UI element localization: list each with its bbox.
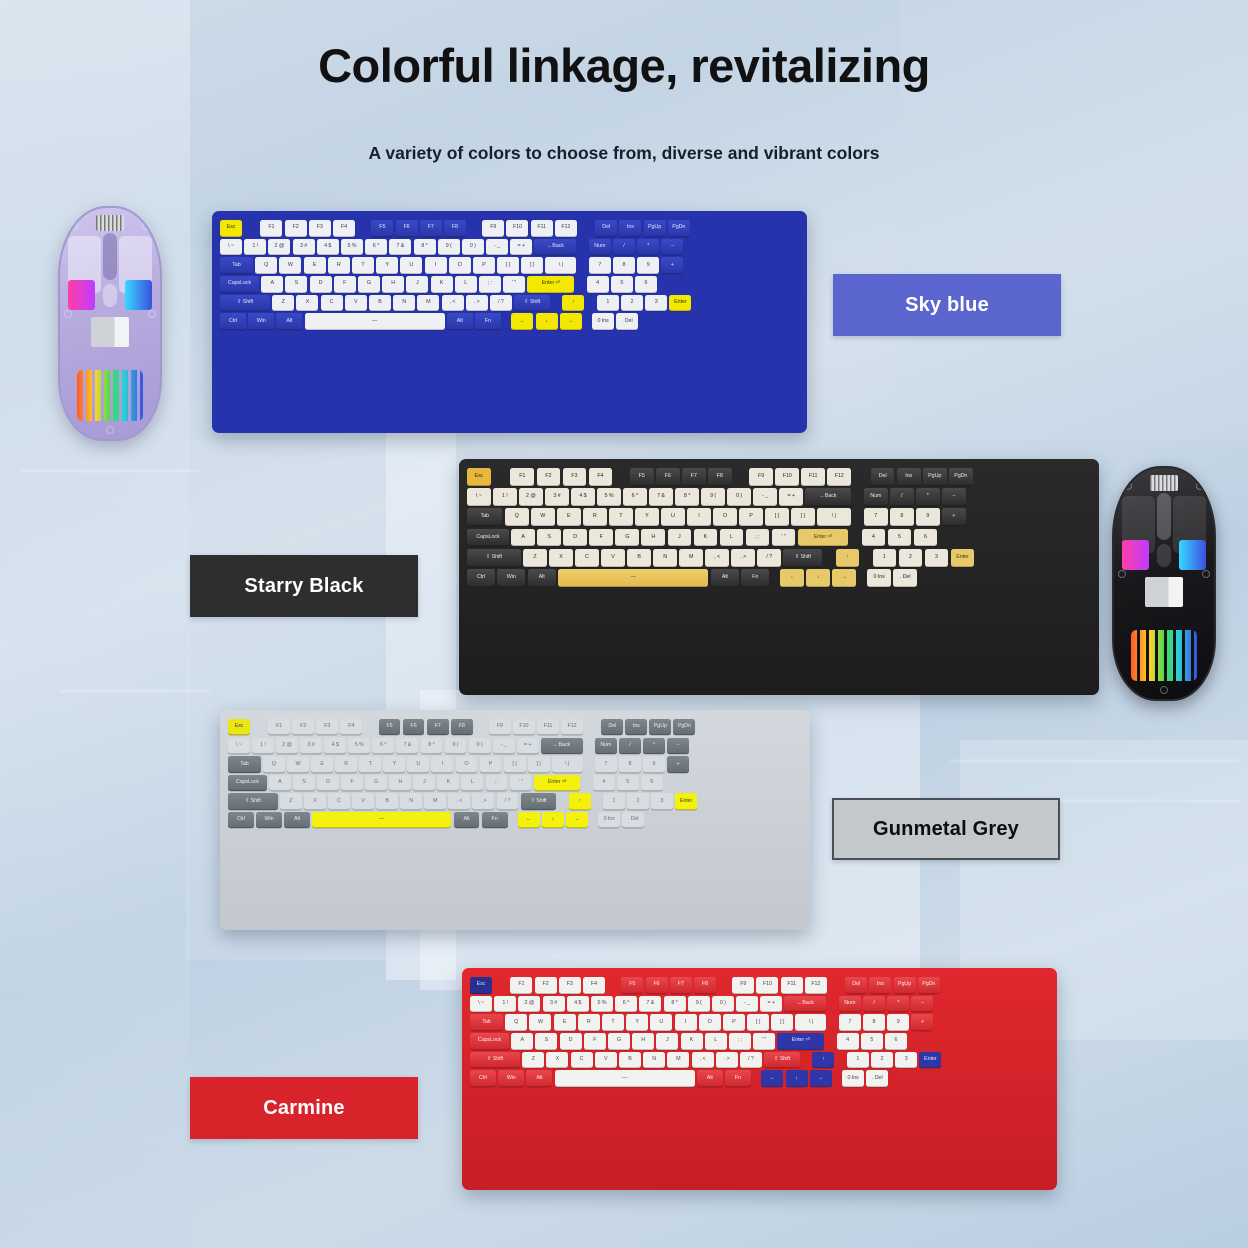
- key-5[interactable]: 5: [617, 775, 639, 791]
- key-l[interactable]: L: [705, 1033, 727, 1050]
- key-9[interactable]: 9 (: [701, 488, 725, 506]
- key-g[interactable]: G: [615, 529, 639, 547]
- key-num[interactable]: Num: [839, 996, 861, 1013]
- key-8[interactable]: 8 *: [414, 239, 436, 256]
- key-7[interactable]: 7: [839, 1014, 861, 1031]
- key-[interactable]: \ ~: [467, 488, 491, 506]
- key-[interactable]: ] }: [521, 257, 543, 274]
- key-f12[interactable]: F12: [805, 977, 827, 994]
- key-[interactable]: \ ~: [470, 996, 492, 1013]
- key-f8[interactable]: F8: [451, 719, 473, 735]
- key-x[interactable]: X: [304, 793, 326, 809]
- key-[interactable]: / ?: [490, 295, 512, 312]
- key-[interactable]: +: [942, 508, 966, 526]
- key-ctrl[interactable]: Ctrl: [470, 1070, 496, 1087]
- key-pgdn[interactable]: PgDn: [918, 977, 940, 994]
- key-esc[interactable]: Esc: [470, 977, 492, 994]
- key-6[interactable]: 6 ^: [365, 239, 387, 256]
- key-win[interactable]: Win: [248, 313, 274, 330]
- key-7[interactable]: 7: [589, 257, 611, 274]
- key-shift[interactable]: ⇧ Shift: [220, 295, 270, 312]
- key-9[interactable]: 9 (: [688, 996, 710, 1013]
- key-pgup[interactable]: PgUp: [644, 220, 666, 237]
- key-[interactable]: ' ": [772, 529, 796, 547]
- key-i[interactable]: I: [431, 756, 453, 772]
- key-[interactable]: ] }: [528, 756, 550, 772]
- key-fn[interactable]: Fn: [482, 812, 508, 828]
- key-7[interactable]: 7: [864, 508, 888, 526]
- key-1[interactable]: 1 !: [244, 239, 266, 256]
- key-r[interactable]: R: [328, 257, 350, 274]
- key-[interactable]: ' ": [503, 276, 525, 293]
- key-5[interactable]: 5 %: [341, 239, 363, 256]
- key-6[interactable]: 6: [635, 276, 657, 293]
- key-f8[interactable]: F8: [444, 220, 466, 237]
- key-f7[interactable]: F7: [670, 977, 692, 994]
- key-pgdn[interactable]: PgDn: [949, 468, 973, 486]
- key-enter[interactable]: Enter ⏎: [534, 775, 581, 791]
- key-shift[interactable]: ⇧ Shift: [228, 793, 278, 809]
- key-[interactable]: —: [305, 313, 445, 330]
- key-3[interactable]: 3: [651, 793, 673, 809]
- key-[interactable]: [ {: [497, 257, 519, 274]
- key-[interactable]: / ?: [757, 549, 781, 567]
- key-l[interactable]: L: [461, 775, 483, 791]
- key-[interactable]: ] }: [771, 1014, 793, 1031]
- key-[interactable]: ↓: [536, 313, 558, 330]
- key-[interactable]: —: [558, 569, 709, 587]
- key-ins[interactable]: Ins: [869, 977, 891, 994]
- key-[interactable]: −: [942, 488, 966, 506]
- key-esc[interactable]: Esc: [228, 719, 250, 735]
- key-f9[interactable]: F9: [482, 220, 504, 237]
- key-1[interactable]: 1 !: [494, 996, 516, 1013]
- key-6[interactable]: 6 ^: [623, 488, 647, 506]
- key-[interactable]: →: [560, 313, 582, 330]
- key-[interactable]: . >: [731, 549, 755, 567]
- key-enter[interactable]: Enter: [951, 549, 975, 567]
- key-[interactable]: —: [555, 1070, 695, 1087]
- key-win[interactable]: Win: [497, 569, 525, 587]
- key-[interactable]: ←: [511, 313, 533, 330]
- key-o[interactable]: O: [699, 1014, 721, 1031]
- key-4[interactable]: 4 $: [317, 239, 339, 256]
- key-0[interactable]: 0 ): [727, 488, 751, 506]
- key-f11[interactable]: F11: [801, 468, 825, 486]
- key-del[interactable]: . Del: [893, 569, 917, 587]
- key-7[interactable]: 7 &: [389, 239, 411, 256]
- key-j[interactable]: J: [656, 1033, 678, 1050]
- key-f4[interactable]: F4: [589, 468, 613, 486]
- key-l[interactable]: L: [720, 529, 744, 547]
- key-z[interactable]: Z: [280, 793, 302, 809]
- key-u[interactable]: U: [661, 508, 685, 526]
- key-f11[interactable]: F11: [531, 220, 553, 237]
- key-9[interactable]: 9 (: [445, 738, 467, 754]
- key-2[interactable]: 2 @: [518, 996, 540, 1013]
- key-f2[interactable]: F2: [285, 220, 307, 237]
- key-del[interactable]: Del: [601, 719, 623, 735]
- key-shift[interactable]: ⇧ Shift: [467, 549, 521, 567]
- key-f9[interactable]: F9: [732, 977, 754, 994]
- key-4[interactable]: 4 $: [571, 488, 595, 506]
- key-tab[interactable]: Tab: [220, 257, 253, 274]
- key-alt[interactable]: Alt: [447, 313, 473, 330]
- key-[interactable]: ←: [518, 812, 540, 828]
- key-ctrl[interactable]: Ctrl: [228, 812, 254, 828]
- key-[interactable]: . >: [716, 1052, 738, 1069]
- key-alt[interactable]: Alt: [526, 1070, 552, 1087]
- key-5[interactable]: 5 %: [348, 738, 370, 754]
- key-9[interactable]: 9: [887, 1014, 909, 1031]
- key-[interactable]: —: [312, 812, 451, 828]
- key-back[interactable]: ←Back: [784, 996, 826, 1013]
- key-h[interactable]: H: [641, 529, 665, 547]
- key-[interactable]: - _: [736, 996, 758, 1013]
- key-a[interactable]: A: [269, 775, 291, 791]
- key-enter[interactable]: Enter ⏎: [527, 276, 574, 293]
- key-f11[interactable]: F11: [537, 719, 559, 735]
- key-c[interactable]: C: [321, 295, 343, 312]
- key-s[interactable]: S: [293, 775, 315, 791]
- key-8[interactable]: 8 *: [421, 738, 443, 754]
- key-2[interactable]: 2: [627, 793, 649, 809]
- key-del[interactable]: Del: [595, 220, 617, 237]
- key-6[interactable]: 6: [641, 775, 663, 791]
- key-shift[interactable]: ⇧ Shift: [514, 295, 550, 312]
- key-[interactable]: = +: [779, 488, 803, 506]
- key-x[interactable]: X: [549, 549, 573, 567]
- key-f12[interactable]: F12: [555, 220, 577, 237]
- key-esc[interactable]: Esc: [220, 220, 242, 237]
- key-f1[interactable]: F1: [268, 719, 290, 735]
- key-fn[interactable]: Fn: [725, 1070, 751, 1087]
- key-3[interactable]: 3: [925, 549, 949, 567]
- key-[interactable]: *: [637, 239, 659, 256]
- key-v[interactable]: V: [352, 793, 374, 809]
- key-[interactable]: ↑: [812, 1052, 834, 1069]
- key-f2[interactable]: F2: [292, 719, 314, 735]
- key-[interactable]: , <: [442, 295, 464, 312]
- key-f4[interactable]: F4: [340, 719, 362, 735]
- key-win[interactable]: Win: [498, 1070, 524, 1087]
- key-pgup[interactable]: PgUp: [894, 977, 916, 994]
- key-[interactable]: ↑: [836, 549, 860, 567]
- key-[interactable]: ; :: [486, 775, 508, 791]
- key-9[interactable]: 9 (: [438, 239, 460, 256]
- key-g[interactable]: G: [365, 775, 387, 791]
- key-o[interactable]: O: [713, 508, 737, 526]
- key-g[interactable]: G: [358, 276, 380, 293]
- key-k[interactable]: K: [694, 529, 718, 547]
- key-[interactable]: - _: [486, 239, 508, 256]
- key-f7[interactable]: F7: [420, 220, 442, 237]
- key-f[interactable]: F: [584, 1033, 606, 1050]
- key-i[interactable]: I: [675, 1014, 697, 1031]
- key-f10[interactable]: F10: [775, 468, 799, 486]
- key-capslock[interactable]: CapsLock: [220, 276, 259, 293]
- key-0[interactable]: 0 ): [469, 738, 491, 754]
- key-c[interactable]: C: [328, 793, 350, 809]
- key-8[interactable]: 8: [890, 508, 914, 526]
- key-[interactable]: *: [887, 996, 909, 1013]
- key-n[interactable]: N: [643, 1052, 665, 1069]
- key-f2[interactable]: F2: [535, 977, 557, 994]
- key-9[interactable]: 9: [637, 257, 659, 274]
- key-num[interactable]: Num: [595, 738, 617, 754]
- key-v[interactable]: V: [595, 1052, 617, 1069]
- key-t[interactable]: T: [609, 508, 633, 526]
- key-9[interactable]: 9: [916, 508, 940, 526]
- key-[interactable]: ; :: [729, 1033, 751, 1050]
- key-r[interactable]: R: [578, 1014, 600, 1031]
- key-f12[interactable]: F12: [827, 468, 851, 486]
- key-q[interactable]: Q: [505, 1014, 527, 1031]
- key-t[interactable]: T: [359, 756, 381, 772]
- key-e[interactable]: E: [557, 508, 581, 526]
- key-q[interactable]: Q: [255, 257, 277, 274]
- key-0-ins[interactable]: 0 Ins: [598, 812, 620, 828]
- key-ctrl[interactable]: Ctrl: [220, 313, 246, 330]
- key-s[interactable]: S: [537, 529, 561, 547]
- key-[interactable]: +: [911, 1014, 933, 1031]
- key-j[interactable]: J: [406, 276, 428, 293]
- key-i[interactable]: I: [687, 508, 711, 526]
- key-[interactable]: , <: [448, 793, 470, 809]
- key-b[interactable]: B: [627, 549, 651, 567]
- key-4[interactable]: 4: [837, 1033, 859, 1050]
- key-f12[interactable]: F12: [561, 719, 583, 735]
- key-[interactable]: = +: [510, 239, 532, 256]
- key-[interactable]: *: [643, 738, 665, 754]
- key-5[interactable]: 5: [888, 529, 912, 547]
- key-d[interactable]: D: [310, 276, 332, 293]
- key-n[interactable]: N: [393, 295, 415, 312]
- key-del[interactable]: . Del: [622, 812, 644, 828]
- key-[interactable]: ←: [780, 569, 804, 587]
- key-4[interactable]: 4: [587, 276, 609, 293]
- key-f9[interactable]: F9: [489, 719, 511, 735]
- key-a[interactable]: A: [511, 529, 535, 547]
- key-[interactable]: [ {: [765, 508, 789, 526]
- key-y[interactable]: Y: [376, 257, 398, 274]
- key-3[interactable]: 3 #: [543, 996, 565, 1013]
- key-g[interactable]: G: [608, 1033, 630, 1050]
- key-b[interactable]: B: [619, 1052, 641, 1069]
- key-f10[interactable]: F10: [756, 977, 778, 994]
- key-[interactable]: ↓: [542, 812, 564, 828]
- key-[interactable]: [ {: [504, 756, 526, 772]
- key-[interactable]: . >: [466, 295, 488, 312]
- key-f7[interactable]: F7: [427, 719, 449, 735]
- key-win[interactable]: Win: [256, 812, 282, 828]
- key-e[interactable]: E: [304, 257, 326, 274]
- key-6[interactable]: 6: [914, 529, 938, 547]
- key-v[interactable]: V: [601, 549, 625, 567]
- key-back[interactable]: ←Back: [541, 738, 583, 754]
- key-[interactable]: →: [810, 1070, 832, 1087]
- key-r[interactable]: R: [335, 756, 357, 772]
- key-back[interactable]: ←Back: [534, 239, 576, 256]
- key-[interactable]: . >: [472, 793, 494, 809]
- key-alt[interactable]: Alt: [284, 812, 310, 828]
- key-k[interactable]: K: [431, 276, 453, 293]
- key-2[interactable]: 2 @: [276, 738, 298, 754]
- key-2[interactable]: 2 @: [268, 239, 290, 256]
- key-[interactable]: ↓: [806, 569, 830, 587]
- key-[interactable]: +: [661, 257, 683, 274]
- key-del[interactable]: . Del: [616, 313, 638, 330]
- key-0[interactable]: 0 ): [462, 239, 484, 256]
- key-del[interactable]: . Del: [866, 1070, 888, 1087]
- key-s[interactable]: S: [535, 1033, 557, 1050]
- key-fn[interactable]: Fn: [741, 569, 769, 587]
- key-n[interactable]: N: [400, 793, 422, 809]
- key-pgdn[interactable]: PgDn: [673, 719, 695, 735]
- key-[interactable]: , <: [705, 549, 729, 567]
- key-[interactable]: \ |: [795, 1014, 826, 1031]
- key-p[interactable]: P: [723, 1014, 745, 1031]
- key-ins[interactable]: Ins: [619, 220, 641, 237]
- key-u[interactable]: U: [400, 257, 422, 274]
- key-shift[interactable]: ⇧ Shift: [764, 1052, 800, 1069]
- key-3[interactable]: 3 #: [545, 488, 569, 506]
- key-shift[interactable]: ⇧ Shift: [470, 1052, 520, 1069]
- key-back[interactable]: ←Back: [805, 488, 850, 506]
- key-w[interactable]: W: [531, 508, 555, 526]
- key-d[interactable]: D: [560, 1033, 582, 1050]
- key-enter[interactable]: Enter: [669, 295, 691, 312]
- key-capslock[interactable]: CapsLock: [467, 529, 509, 547]
- key-[interactable]: \ |: [545, 257, 576, 274]
- key-f[interactable]: F: [589, 529, 613, 547]
- key-pgup[interactable]: PgUp: [649, 719, 671, 735]
- key-f4[interactable]: F4: [583, 977, 605, 994]
- key-3[interactable]: 3 #: [293, 239, 315, 256]
- key-[interactable]: - _: [753, 488, 777, 506]
- key-f[interactable]: F: [334, 276, 356, 293]
- key-f4[interactable]: F4: [333, 220, 355, 237]
- key-2[interactable]: 2: [621, 295, 643, 312]
- key-k[interactable]: K: [681, 1033, 703, 1050]
- key-f6[interactable]: F6: [403, 719, 425, 735]
- key-a[interactable]: A: [261, 276, 283, 293]
- key-shift[interactable]: ⇧ Shift: [521, 793, 557, 809]
- key-n[interactable]: N: [653, 549, 677, 567]
- key-r[interactable]: R: [583, 508, 607, 526]
- key-4[interactable]: 4 $: [324, 738, 346, 754]
- key-[interactable]: *: [916, 488, 940, 506]
- key-c[interactable]: C: [571, 1052, 593, 1069]
- key-0[interactable]: 0 ): [712, 996, 734, 1013]
- key-[interactable]: ; :: [746, 529, 770, 547]
- key-f6[interactable]: F6: [646, 977, 668, 994]
- key-f3[interactable]: F3: [559, 977, 581, 994]
- key-esc[interactable]: Esc: [467, 468, 491, 486]
- key-8[interactable]: 8: [863, 1014, 885, 1031]
- key-enter[interactable]: Enter ⏎: [777, 1033, 824, 1050]
- key-o[interactable]: O: [449, 257, 471, 274]
- key-[interactable]: ↓: [786, 1070, 808, 1087]
- key-f8[interactable]: F8: [708, 468, 732, 486]
- key-h[interactable]: H: [382, 276, 404, 293]
- key-7[interactable]: 7 &: [639, 996, 661, 1013]
- key-ins[interactable]: Ins: [897, 468, 921, 486]
- key-f3[interactable]: F3: [563, 468, 587, 486]
- key-f5[interactable]: F5: [371, 220, 393, 237]
- key-5[interactable]: 5: [861, 1033, 883, 1050]
- key-t[interactable]: T: [602, 1014, 624, 1031]
- key-m[interactable]: M: [667, 1052, 689, 1069]
- key-[interactable]: \ ~: [228, 738, 250, 754]
- key-5[interactable]: 5: [611, 276, 633, 293]
- key-y[interactable]: Y: [383, 756, 405, 772]
- key-f6[interactable]: F6: [396, 220, 418, 237]
- key-u[interactable]: U: [650, 1014, 672, 1031]
- key-b[interactable]: B: [376, 793, 398, 809]
- key-capslock[interactable]: CapsLock: [470, 1033, 509, 1050]
- key-ctrl[interactable]: Ctrl: [467, 569, 495, 587]
- key-capslock[interactable]: CapsLock: [228, 775, 267, 791]
- key-[interactable]: ' ": [753, 1033, 775, 1050]
- key-f5[interactable]: F5: [379, 719, 401, 735]
- key-ins[interactable]: Ins: [625, 719, 647, 735]
- key-f1[interactable]: F1: [260, 220, 282, 237]
- key-x[interactable]: X: [546, 1052, 568, 1069]
- key-enter[interactable]: Enter: [919, 1052, 941, 1069]
- key-m[interactable]: M: [424, 793, 446, 809]
- key-h[interactable]: H: [632, 1033, 654, 1050]
- key-6[interactable]: 6 ^: [372, 738, 394, 754]
- key-[interactable]: / ?: [497, 793, 519, 809]
- key-z[interactable]: Z: [272, 295, 294, 312]
- key-[interactable]: −: [661, 239, 683, 256]
- key-[interactable]: \ |: [552, 756, 583, 772]
- key-b[interactable]: B: [369, 295, 391, 312]
- key-e[interactable]: E: [311, 756, 333, 772]
- key-8[interactable]: 8: [613, 257, 635, 274]
- key-f5[interactable]: F5: [630, 468, 654, 486]
- key-c[interactable]: C: [575, 549, 599, 567]
- key-alt[interactable]: Alt: [454, 812, 480, 828]
- key-m[interactable]: M: [679, 549, 703, 567]
- key-p[interactable]: P: [739, 508, 763, 526]
- key-f10[interactable]: F10: [506, 220, 528, 237]
- key-8[interactable]: 8 *: [675, 488, 699, 506]
- key-s[interactable]: S: [285, 276, 307, 293]
- key-8[interactable]: 8 *: [664, 996, 686, 1013]
- key-f5[interactable]: F5: [621, 977, 643, 994]
- key-w[interactable]: W: [279, 257, 301, 274]
- key-7[interactable]: 7: [595, 756, 617, 772]
- key-9[interactable]: 9: [643, 756, 665, 772]
- key-y[interactable]: Y: [626, 1014, 648, 1031]
- key-[interactable]: +: [667, 756, 689, 772]
- key-q[interactable]: Q: [505, 508, 529, 526]
- key-4[interactable]: 4: [593, 775, 615, 791]
- key-2[interactable]: 2 @: [519, 488, 543, 506]
- key-[interactable]: = +: [760, 996, 782, 1013]
- key-[interactable]: \ |: [817, 508, 850, 526]
- key-f3[interactable]: F3: [316, 719, 338, 735]
- key-o[interactable]: O: [456, 756, 478, 772]
- key-[interactable]: ←: [761, 1070, 783, 1087]
- key-4[interactable]: 4: [862, 529, 886, 547]
- key-f10[interactable]: F10: [513, 719, 535, 735]
- key-5[interactable]: 5 %: [597, 488, 621, 506]
- key-pgdn[interactable]: PgDn: [668, 220, 690, 237]
- key-f[interactable]: F: [341, 775, 363, 791]
